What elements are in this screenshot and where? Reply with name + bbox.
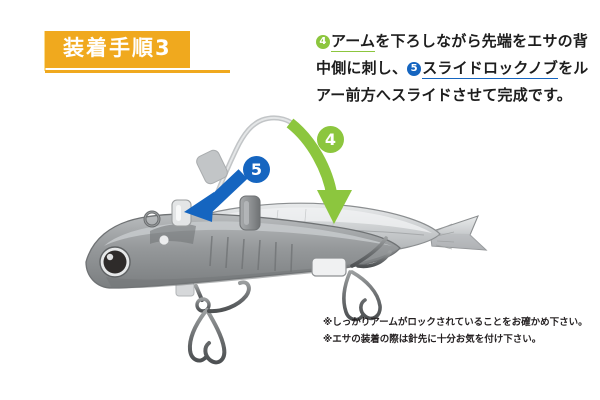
footnote-2: ※エサの装着の際は針先に十分お気を付け下さい。 [323, 331, 593, 348]
slide-lock-knob [240, 196, 260, 230]
front-treble-hook [190, 282, 249, 362]
illustration-page: 4 5 装着手順3 4アームを下ろしながら先端をエサの背中側に刺し、5スライドロ… [0, 0, 600, 400]
page-title: 装着手順3 [45, 31, 190, 68]
inline-marker-5: 5 [407, 62, 421, 76]
instruction-paragraph: 4アームを下ろしながら先端をエサの背中側に刺し、5スライドロックノブをルアー前方… [316, 28, 592, 109]
inline-marker-4: 4 [316, 35, 330, 49]
diagram-step-5-badge: 5 [243, 156, 270, 183]
footnote-1: ※しっかりアームがロックされていることをお確かめ下さい。 [323, 314, 593, 331]
title-underline [45, 70, 230, 73]
footnotes: ※しっかりアームがロックされていることをお確かめ下さい。 ※エサの装着の際は針先… [323, 314, 593, 348]
diagram-step-4-badge: 4 [317, 126, 344, 153]
term-slide-lock-knob: スライドロックノブ [422, 59, 558, 79]
term-arm: アーム [331, 32, 375, 52]
lure-eye [100, 247, 130, 277]
